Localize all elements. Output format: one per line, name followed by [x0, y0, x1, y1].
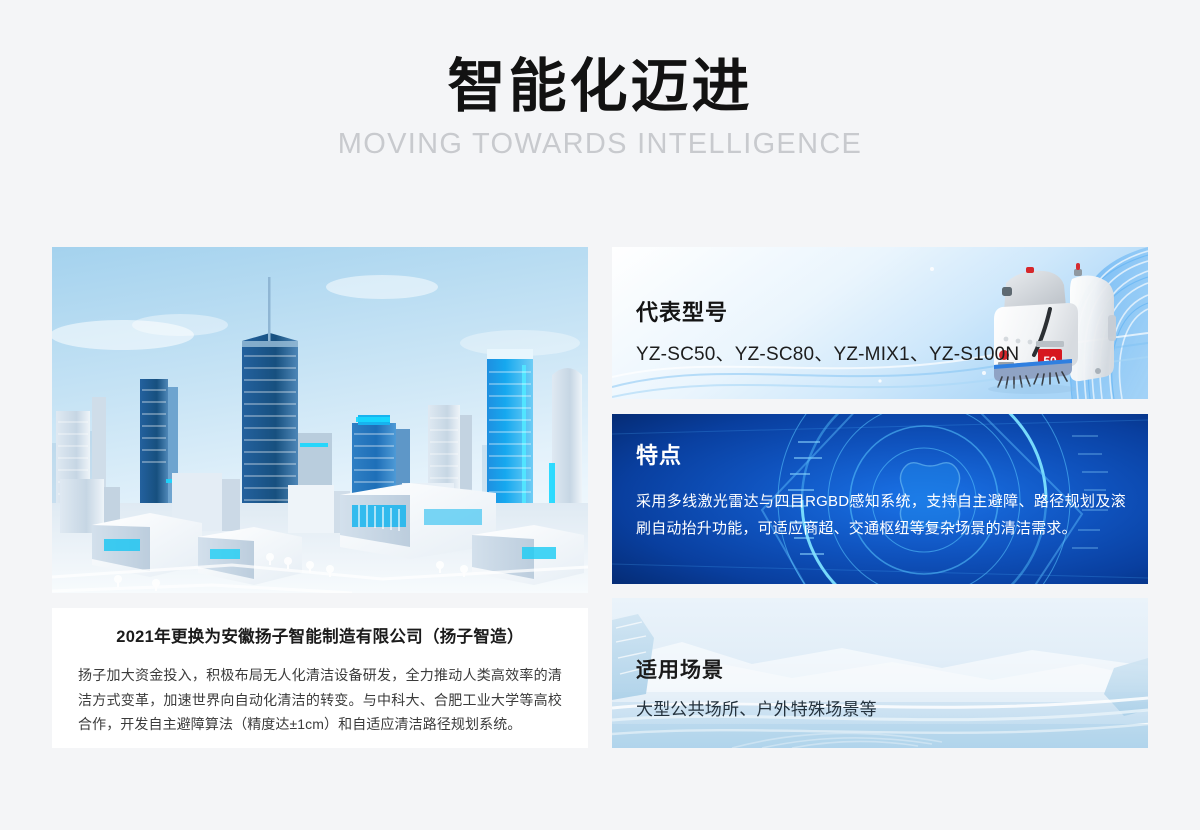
- panel-models-content: 代表型号 YZ-SC50、YZ-SC80、YZ-MIX1、YZ-S100N: [612, 247, 1148, 366]
- company-info-body: 扬子加大资金投入，积极布局无人化清洁设备研发，全力推动人类高效率的清洁方式变革，…: [78, 663, 562, 737]
- smart-city-skyline-image: [52, 247, 588, 593]
- company-info-title: 2021年更换为安徽扬子智能制造有限公司（扬子智造）: [78, 626, 562, 649]
- page-subtitle: MOVING TOWARDS INTELLIGENCE: [0, 127, 1200, 162]
- panel-scenarios[interactable]: 适用场景 大型公共场所、户外特殊场景等: [612, 598, 1148, 748]
- panel-features-content: 特点 采用多线激光雷达与四目RGBD感知系统，支持自主避障、路径规划及滚刷自动抬…: [612, 414, 1148, 542]
- city-image-card: [52, 247, 588, 593]
- page-header: 智能化迈进 MOVING TOWARDS INTELLIGENCE: [0, 54, 1200, 161]
- page-title: 智能化迈进: [0, 54, 1200, 121]
- panel-features[interactable]: 特点 采用多线激光雷达与四目RGBD感知系统，支持自主避障、路径规划及滚刷自动抬…: [612, 414, 1148, 584]
- panel-models-text: YZ-SC50、YZ-SC80、YZ-MIX1、YZ-S100N: [636, 339, 1148, 366]
- panel-scenarios-text: 大型公共场所、户外特殊场景等: [636, 695, 1148, 720]
- panel-scenarios-title: 适用场景: [636, 654, 1148, 684]
- panel-representative-models[interactable]: 50 代表型号 YZ-SC50、YZ-SC: [612, 247, 1148, 399]
- panel-features-text: 采用多线激光雷达与四目RGBD感知系统，支持自主避障、路径规划及滚刷自动抬升功能…: [636, 488, 1126, 542]
- panel-models-title: 代表型号: [636, 295, 1148, 327]
- panel-features-title: 特点: [636, 438, 1126, 470]
- company-info-card: 2021年更换为安徽扬子智能制造有限公司（扬子智造） 扬子加大资金投入，积极布局…: [52, 608, 588, 748]
- page-root: 智能化迈进 MOVING TOWARDS INTELLIGENCE: [0, 0, 1200, 830]
- panel-scenarios-content: 适用场景 大型公共场所、户外特殊场景等: [612, 598, 1148, 720]
